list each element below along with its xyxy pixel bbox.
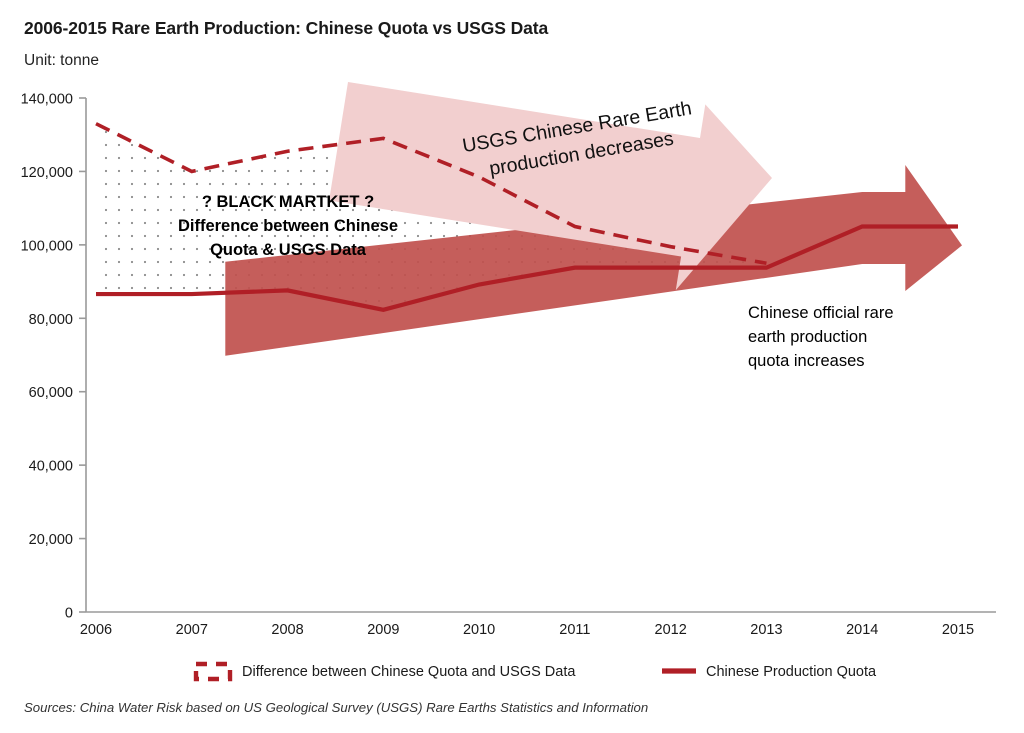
legend-marker-dashed-box: [196, 664, 230, 679]
black-market-line-2: Difference between Chinese: [178, 217, 398, 235]
annotation-quota-increases: Chinese official rare earth production q…: [748, 304, 894, 370]
quota-increases-line-1: Chinese official rare: [748, 304, 894, 322]
y-tick-label: 100,000: [21, 238, 73, 254]
x-tick-label: 2007: [176, 622, 208, 638]
y-tick-label: 80,000: [29, 312, 73, 328]
y-tick-label: 60,000: [29, 385, 73, 401]
y-tick-label: 120,000: [21, 165, 73, 181]
quota-increases-line-3: quota increases: [748, 352, 865, 370]
black-market-line-1: ? BLACK MARTKET ?: [202, 193, 374, 211]
source-note: Sources: China Water Risk based on US Ge…: [24, 700, 648, 715]
chart-page: 2006-2015 Rare Earth Production: Chinese…: [0, 0, 1024, 733]
x-tick-label: 2009: [367, 622, 399, 638]
y-tick-label: 0: [65, 606, 73, 622]
x-axis-tick-labels: 2006200720082009201020112012201320142015: [80, 622, 974, 638]
legend-label-quota: Chinese Production Quota: [706, 664, 877, 680]
black-market-line-3: Quota & USGS Data: [210, 241, 367, 259]
x-tick-label: 2008: [271, 622, 303, 638]
x-tick-label: 2015: [942, 622, 974, 638]
quota-increases-line-2: earth production: [748, 328, 867, 346]
x-tick-label: 2011: [559, 622, 590, 638]
y-tick-label: 40,000: [29, 459, 73, 475]
x-tick-label: 2010: [463, 622, 495, 638]
x-tick-label: 2006: [80, 622, 112, 638]
y-tick-label: 140,000: [21, 92, 73, 108]
annotation-black-market: ? BLACK MARTKET ? Difference between Chi…: [178, 193, 398, 259]
y-tick-label: 20,000: [29, 532, 73, 548]
legend-item-quota[interactable]: Chinese Production Quota: [662, 664, 877, 680]
y-axis-tick-labels: 020,00040,00060,00080,000100,000120,0001…: [21, 92, 73, 622]
x-tick-label: 2013: [750, 622, 782, 638]
x-tick-label: 2014: [846, 622, 878, 638]
legend-item-difference[interactable]: Difference between Chinese Quota and USG…: [196, 664, 576, 680]
chart-legend: Difference between Chinese Quota and USG…: [196, 664, 877, 680]
x-tick-label: 2012: [655, 622, 687, 638]
chart-canvas: 020,00040,00060,00080,000100,000120,0001…: [0, 0, 1024, 733]
legend-label-difference: Difference between Chinese Quota and USG…: [242, 664, 576, 680]
